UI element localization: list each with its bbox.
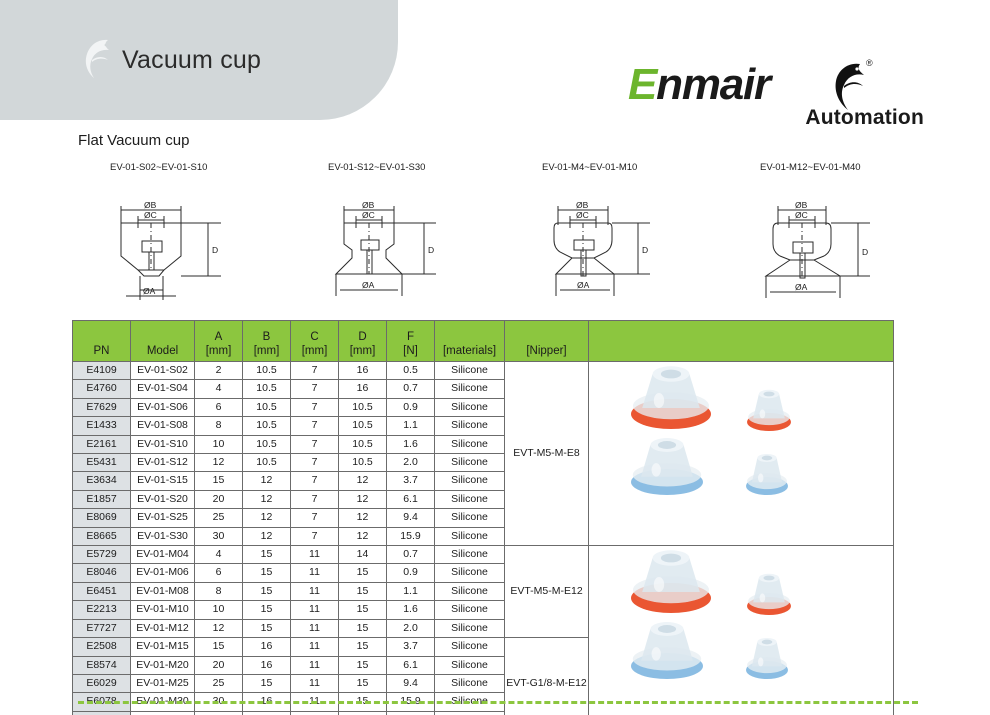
cell-dim-b: 12 [243, 472, 291, 490]
cell-part-number: E1857 [73, 490, 131, 508]
cell-model: EV-01-M40 [131, 711, 195, 715]
cell-dim-d: 16 [339, 380, 387, 398]
dim-label-a: ØA [577, 280, 590, 290]
specification-table: PN Model A[mm] B[mm] C[mm] D[mm] F[N] [m… [72, 320, 894, 715]
cell-dim-c: 11 [291, 619, 339, 637]
cell-materials: Silicone [435, 638, 505, 656]
cell-dim-d: 16 [339, 362, 387, 380]
cell-dim-b: 15 [243, 601, 291, 619]
cell-model: EV-01-S25 [131, 509, 195, 527]
header-band: Vacuum cup [0, 0, 398, 120]
technical-drawings: EV-01-S02~EV-01-S10 [72, 162, 972, 307]
cell-dim-c: 11 [291, 656, 339, 674]
cell-part-number: E6029 [73, 674, 131, 692]
cell-force-f: 26.7 [387, 711, 435, 715]
cell-part-number: E6451 [73, 582, 131, 600]
cell-part-number: E4760 [73, 380, 131, 398]
cell-materials: Silicone [435, 362, 505, 380]
cell-model: EV-01-S06 [131, 398, 195, 416]
registered-trademark-icon: ® [866, 58, 873, 68]
dim-label-c: ØC [362, 210, 375, 220]
brand-initial: E [628, 60, 656, 109]
drawing-ev-01-s02-s10: EV-01-S02~EV-01-S10 [72, 162, 287, 307]
column-header-d: D[mm] [339, 321, 387, 362]
cell-dim-b: 10.5 [243, 380, 291, 398]
cell-dim-c: 7 [291, 509, 339, 527]
cell-dim-c: 7 [291, 435, 339, 453]
cell-part-number: E2161 [73, 435, 131, 453]
cell-dim-c: 11 [291, 711, 339, 715]
page-title: Vacuum cup [122, 46, 261, 75]
cell-part-number: E8665 [73, 527, 131, 545]
cell-dim-a: 12 [195, 454, 243, 472]
cell-dim-c: 7 [291, 417, 339, 435]
table-header-row: PN Model A[mm] B[mm] C[mm] D[mm] F[N] [m… [73, 321, 894, 362]
column-header-model: Model [131, 321, 195, 362]
cell-dim-b: 10.5 [243, 435, 291, 453]
brand-logo: Enmair ® Automation [628, 58, 928, 136]
cell-model: EV-01-S12 [131, 454, 195, 472]
cell-materials: Silicone [435, 509, 505, 527]
cell-dim-a: 4 [195, 546, 243, 564]
cell-dim-b: 15 [243, 546, 291, 564]
dim-label-c: ØC [576, 210, 589, 220]
cell-dim-d: 15 [339, 638, 387, 656]
brand-wordmark: Enmair [628, 60, 770, 110]
drawing-figure: ØB ØC D ØA [314, 178, 484, 303]
cell-dim-d: 15 [339, 619, 387, 637]
dim-label-b: ØB [144, 200, 157, 210]
cell-model: EV-01-S10 [131, 435, 195, 453]
cell-part-number: E8574 [73, 656, 131, 674]
cell-dim-a: 20 [195, 656, 243, 674]
cell-materials: Silicone [435, 582, 505, 600]
cell-dim-a: 8 [195, 582, 243, 600]
cell-materials: Silicone [435, 472, 505, 490]
product-photo-group [589, 362, 893, 545]
cell-materials: Silicone [435, 490, 505, 508]
table-row: E5729EV-01-M0441511140.7SiliconeEVT-M5-M… [73, 546, 894, 564]
cell-model: EV-01-M06 [131, 564, 195, 582]
cell-dim-c: 11 [291, 546, 339, 564]
drawing-caption: EV-01-S12~EV-01-S30 [328, 162, 425, 173]
cell-force-f: 3.7 [387, 472, 435, 490]
cell-dim-c: 11 [291, 674, 339, 692]
cell-dim-d: 12 [339, 527, 387, 545]
cell-dim-c: 7 [291, 490, 339, 508]
cell-dim-a: 10 [195, 601, 243, 619]
dim-label-a: ØA [362, 280, 375, 290]
cell-dim-a: 15 [195, 638, 243, 656]
drawing-figure: ØB ØC D ØA [528, 178, 698, 303]
cell-dim-b: 15 [243, 564, 291, 582]
cell-force-f: 0.7 [387, 380, 435, 398]
cell-part-number: E2508 [73, 638, 131, 656]
cell-model: EV-01-M12 [131, 619, 195, 637]
cell-dim-a: 4 [195, 380, 243, 398]
cell-force-f: 15.9 [387, 527, 435, 545]
cell-dim-c: 7 [291, 398, 339, 416]
cell-dim-c: 7 [291, 472, 339, 490]
dim-label-a: ØA [143, 286, 156, 296]
cell-part-number: E7727 [73, 619, 131, 637]
cell-dim-a: 12 [195, 619, 243, 637]
cell-dim-a: 25 [195, 674, 243, 692]
cell-dim-a: 6 [195, 398, 243, 416]
cell-model: EV-01-S20 [131, 490, 195, 508]
dim-label-c: ØC [795, 210, 808, 220]
column-header-image [589, 321, 894, 362]
cell-dim-b: 12 [243, 527, 291, 545]
cell-dim-a: 25 [195, 509, 243, 527]
cell-dim-c: 7 [291, 527, 339, 545]
cell-dim-b: 15 [243, 674, 291, 692]
cell-nipper: EVT-M5-M-E8 [505, 362, 589, 546]
cell-dim-c: 7 [291, 362, 339, 380]
cell-nipper: EVT-M5-M-E12 [505, 546, 589, 638]
dim-label-b: ØB [362, 200, 375, 210]
cell-dim-d: 15 [339, 656, 387, 674]
drawing-ev-01-m4-m10: EV-01-M4~EV-01-M10 [504, 162, 719, 307]
cell-dim-d: 12 [339, 490, 387, 508]
drawing-figure: ØB ØC D ØA [746, 178, 916, 303]
cell-dim-d: 14 [339, 546, 387, 564]
column-header-a: A[mm] [195, 321, 243, 362]
cell-model: EV-01-S08 [131, 417, 195, 435]
cell-model: EV-01-M08 [131, 582, 195, 600]
cell-force-f: 1.1 [387, 417, 435, 435]
cell-materials: Silicone [435, 380, 505, 398]
cell-dim-c: 11 [291, 564, 339, 582]
cell-materials: Silicone [435, 454, 505, 472]
cell-dim-c: 11 [291, 601, 339, 619]
cell-force-f: 0.9 [387, 398, 435, 416]
column-header-b: B[mm] [243, 321, 291, 362]
cell-materials: Silicone [435, 527, 505, 545]
cell-dim-d: 15 [339, 674, 387, 692]
cell-dim-b: 10.5 [243, 454, 291, 472]
cell-dim-a: 10 [195, 435, 243, 453]
cell-dim-d: 10.5 [339, 398, 387, 416]
drawing-ev-01-m12-m40: EV-01-M12~EV-01-M40 [722, 162, 937, 307]
cell-dim-d: 12 [339, 509, 387, 527]
cell-force-f: 6.1 [387, 490, 435, 508]
dim-label-c: ØC [144, 210, 157, 220]
cell-materials: Silicone [435, 619, 505, 637]
cell-dim-a: 2 [195, 362, 243, 380]
column-header-c: C[mm] [291, 321, 339, 362]
cell-force-f: 3.7 [387, 638, 435, 656]
cell-materials: Silicone [435, 564, 505, 582]
cell-force-f: 0.7 [387, 546, 435, 564]
cell-dim-d: 16 [339, 711, 387, 715]
dim-label-d: D [212, 245, 218, 255]
dim-label-b: ØB [795, 200, 808, 210]
cell-dim-b: 15 [243, 619, 291, 637]
cell-dim-b: 17 [243, 711, 291, 715]
dim-label-d: D [862, 247, 868, 257]
cell-dim-a: 15 [195, 472, 243, 490]
cell-materials: Silicone [435, 674, 505, 692]
cell-model: EV-01-S04 [131, 380, 195, 398]
cell-model: EV-01-S30 [131, 527, 195, 545]
section-title: Flat Vacuum cup [78, 132, 189, 149]
cell-materials: Silicone [435, 398, 505, 416]
cell-part-number: E4109 [73, 362, 131, 380]
cell-dim-c: 7 [291, 454, 339, 472]
cell-part-number: E0565 [73, 711, 131, 715]
cell-dim-b: 10.5 [243, 362, 291, 380]
cell-dim-d: 10.5 [339, 454, 387, 472]
cell-part-number: E5431 [73, 454, 131, 472]
cell-dim-c: 11 [291, 582, 339, 600]
cell-model: EV-01-S15 [131, 472, 195, 490]
cell-dim-b: 12 [243, 490, 291, 508]
cell-force-f: 9.4 [387, 509, 435, 527]
dim-label-d: D [428, 245, 434, 255]
cell-dim-b: 10.5 [243, 417, 291, 435]
cell-product-photo [589, 362, 894, 546]
cell-dim-a: 30 [195, 527, 243, 545]
dim-label-a: ØA [795, 282, 808, 292]
page-root: Vacuum cup Enmair ® Automation Flat Vacu… [0, 0, 990, 715]
drawing-ev-01-s12-s30: EV-01-S12~EV-01-S30 [290, 162, 505, 307]
column-header-nipper: [Nipper] [505, 321, 589, 362]
cell-model: EV-01-M25 [131, 674, 195, 692]
cell-product-photo [589, 546, 894, 715]
drawing-caption: EV-01-M12~EV-01-M40 [760, 162, 861, 173]
cell-force-f: 1.6 [387, 601, 435, 619]
cell-force-f: 2.0 [387, 619, 435, 637]
cell-dim-b: 12 [243, 509, 291, 527]
table-row: E4109EV-01-S02210.57160.5SiliconeEVT-M5-… [73, 362, 894, 380]
dim-label-b: ØB [576, 200, 589, 210]
cell-dim-a: 40 [195, 711, 243, 715]
table-body: E4109EV-01-S02210.57160.5SiliconeEVT-M5-… [73, 362, 894, 715]
cell-dim-d: 15 [339, 601, 387, 619]
cell-dim-b: 15 [243, 582, 291, 600]
product-photo-group [589, 546, 893, 715]
cell-force-f: 0.5 [387, 362, 435, 380]
cell-part-number: E5729 [73, 546, 131, 564]
cell-force-f: 1.1 [387, 582, 435, 600]
cell-dim-c: 11 [291, 638, 339, 656]
table-header: PN Model A[mm] B[mm] C[mm] D[mm] F[N] [m… [73, 321, 894, 362]
drawing-figure: ØB ØC D ØA [96, 178, 266, 303]
brand-rest: nmair [656, 60, 770, 109]
column-header-f: F[N] [387, 321, 435, 362]
cell-dim-a: 6 [195, 564, 243, 582]
cell-force-f: 1.6 [387, 435, 435, 453]
cell-model: EV-01-M20 [131, 656, 195, 674]
cell-model: EV-01-S02 [131, 362, 195, 380]
cell-force-f: 9.4 [387, 674, 435, 692]
cell-dim-d: 15 [339, 582, 387, 600]
cell-dim-b: 16 [243, 638, 291, 656]
cell-materials: Silicone [435, 546, 505, 564]
cell-materials: Silicone [435, 601, 505, 619]
cell-dim-d: 12 [339, 472, 387, 490]
cell-part-number: E2213 [73, 601, 131, 619]
cell-force-f: 0.9 [387, 564, 435, 582]
cell-part-number: E8069 [73, 509, 131, 527]
cell-dim-b: 16 [243, 656, 291, 674]
cell-materials: Silicone [435, 435, 505, 453]
column-header-pn: PN [73, 321, 131, 362]
cell-dim-b: 10.5 [243, 398, 291, 416]
drawing-caption: EV-01-M4~EV-01-M10 [542, 162, 637, 173]
cell-dim-a: 20 [195, 490, 243, 508]
cell-part-number: E8046 [73, 564, 131, 582]
cell-force-f: 6.1 [387, 656, 435, 674]
dim-label-d: D [642, 245, 648, 255]
cell-materials: Silicone [435, 417, 505, 435]
column-header-materials: [materials] [435, 321, 505, 362]
cell-dim-a: 8 [195, 417, 243, 435]
cell-model: EV-01-M10 [131, 601, 195, 619]
footer-divider [78, 701, 918, 704]
cell-materials: Silicone [435, 656, 505, 674]
cell-model: EV-01-M04 [131, 546, 195, 564]
cell-model: EV-01-M15 [131, 638, 195, 656]
cell-force-f: 2.0 [387, 454, 435, 472]
cell-dim-d: 15 [339, 564, 387, 582]
drawing-caption: EV-01-S02~EV-01-S10 [110, 162, 207, 173]
cell-part-number: E1433 [73, 417, 131, 435]
dolphin-icon [78, 36, 118, 86]
brand-tagline: Automation [805, 106, 924, 130]
cell-dim-c: 7 [291, 380, 339, 398]
cell-dim-d: 10.5 [339, 435, 387, 453]
cell-part-number: E7629 [73, 398, 131, 416]
cell-materials: Silicone [435, 711, 505, 715]
cell-part-number: E3634 [73, 472, 131, 490]
cell-dim-d: 10.5 [339, 417, 387, 435]
